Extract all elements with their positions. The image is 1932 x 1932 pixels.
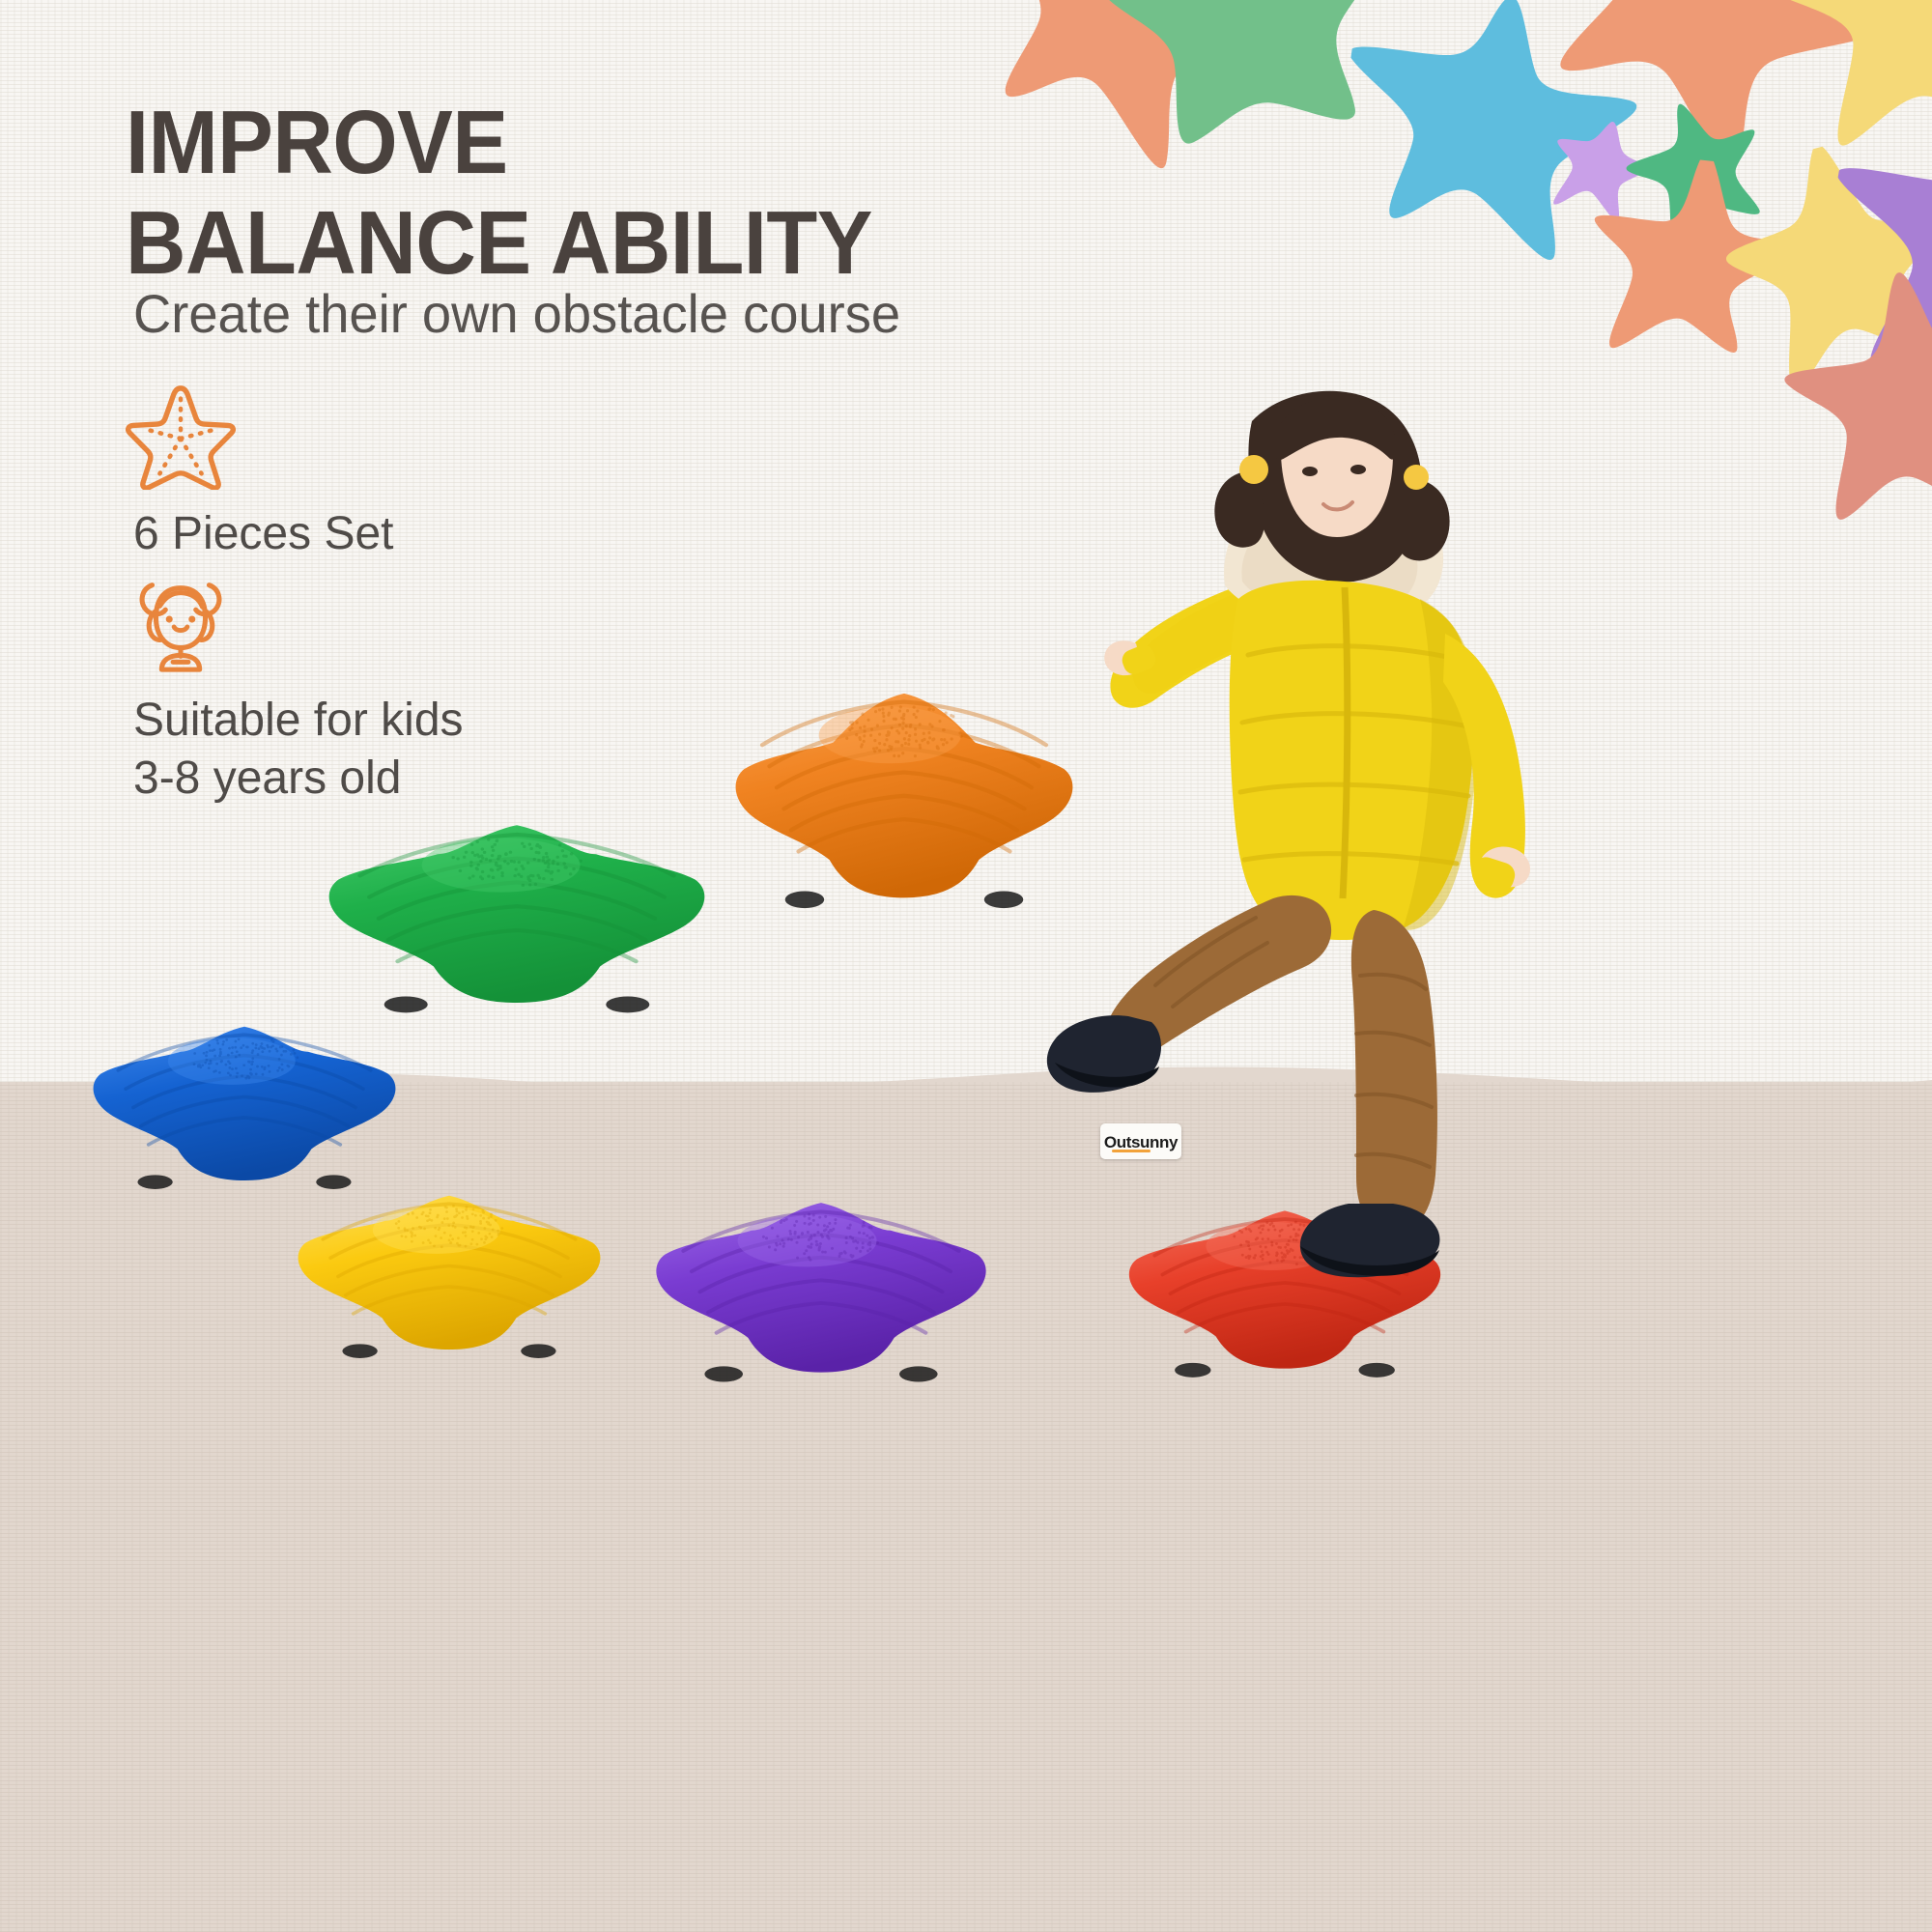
feature-item-pieces: 6 Pieces Set (124, 382, 393, 563)
deco-star-salmon-right (1754, 257, 1932, 565)
stone-blue (85, 1005, 404, 1193)
starfish-icon (124, 382, 238, 490)
feature-item-age: Suitable for kids 3-8 years old (124, 568, 464, 808)
feature-label-pieces: 6 Pieces Set (133, 505, 393, 563)
product-banner: IMPROVE BALANCE ABILITY Create their own… (0, 0, 1932, 1932)
child-right-leg (1300, 910, 1440, 1277)
feature-label-age: Suitable for kids 3-8 years old (133, 692, 464, 808)
child-left-leg (1047, 895, 1331, 1093)
page-headline: IMPROVE BALANCE ABILITY (126, 92, 1024, 293)
stone-yellow (290, 1174, 609, 1362)
girl-face-icon (124, 568, 238, 676)
child-balancing (966, 357, 1700, 1381)
stone-purple (647, 1179, 995, 1386)
hair-tie-icon (1239, 455, 1268, 484)
page-subheadline: Create their own obstacle course (133, 282, 1118, 345)
stone-green (319, 800, 715, 1017)
